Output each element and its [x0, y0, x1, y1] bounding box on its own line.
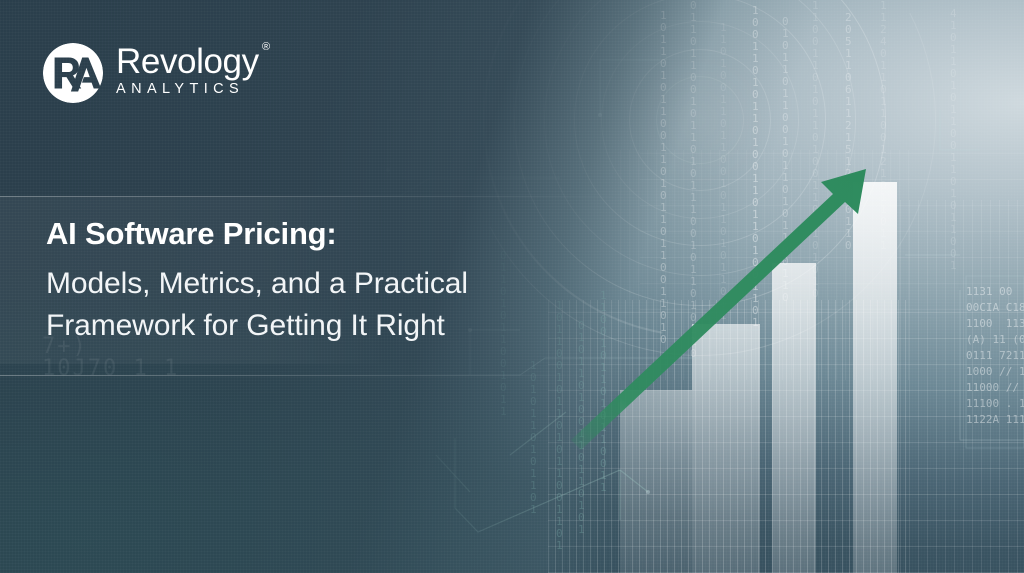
headline-line-3: Framework for Getting It Right: [46, 305, 606, 347]
logo-word-text: Revology: [116, 42, 259, 81]
brand-logo[interactable]: Revology ® ANALYTICS: [42, 42, 259, 104]
banner-root: 1 0 1 1 0 1 0 1 1 0 0 1 1 0 1 0 1 1 0 1 …: [0, 0, 1024, 573]
logo-subtitle-analytics: ANALYTICS: [116, 81, 259, 97]
headline-line-2: Models, Metrics, and a Practical: [46, 263, 606, 305]
headline-line-1: AI Software Pricing:: [46, 214, 606, 254]
headline-block: AI Software Pricing: Models, Metrics, an…: [46, 214, 606, 347]
logo-word-revology: Revology ®: [116, 44, 259, 80]
logo-wordmark: Revology ® ANALYTICS: [116, 44, 259, 97]
ra-monogram-icon: [42, 42, 104, 104]
registered-trademark-icon: ®: [262, 42, 270, 53]
